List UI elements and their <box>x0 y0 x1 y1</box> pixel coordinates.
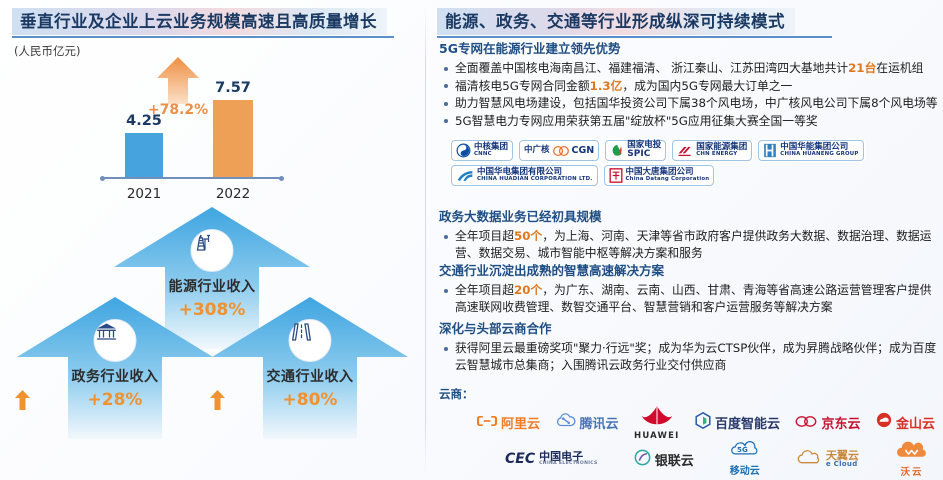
up-arrow-icon <box>15 390 30 410</box>
left-title-text: 垂直行业及企业上云业务规模高速且高质量增长 <box>12 8 387 35</box>
list-item: 全面覆盖中国核电海南昌江、福建福清、 浙江秦山、江苏田湾四大基地共计21台在运机… <box>441 60 943 77</box>
vendor-wo-name: 沃云 <box>900 464 923 478</box>
vendor-cec-text: 中国电子 CHINA ELECTRONICS <box>539 451 598 467</box>
chart-axis-line <box>102 177 282 179</box>
logo-en-name: CNNC <box>474 152 508 158</box>
logo-en-name: CHINA HUADIAN CORPORATION LTD. <box>477 177 593 183</box>
vendor-cmcc-name: 移动云 <box>730 462 760 477</box>
cmcc-cloud-icon: 5G <box>730 441 760 462</box>
bar-2022 <box>213 100 253 178</box>
section-government: 政务大数据业务已经初具规模 全年项目超50个，为上海、河南、天津等省市政府客户提… <box>437 206 943 262</box>
jd-cloud-icon <box>795 413 817 432</box>
section-cloud-cooperation: 深化与头部云商合作 获得阿里云最重磅奖项"聚力·行远"奖；成为华为云CTSP伙伴… <box>437 318 943 374</box>
spic-mark-icon <box>610 144 624 158</box>
bullet-highlight: 1.3亿 <box>590 79 623 93</box>
logo-en-name: China Datang Corporation <box>626 177 710 183</box>
logo-chip-cgn: 中广核 CGN <box>519 140 599 161</box>
government-icon-badge <box>94 319 137 362</box>
up-arrow-icon <box>210 390 225 410</box>
huaneng-mark-icon <box>763 143 777 158</box>
logo-chip-datang: 中国大唐集团公司 China Datang Corporation <box>604 165 715 186</box>
logo-chip-chn-energy: 国家能源集团 CHN ENERGY <box>672 140 752 161</box>
vendor-tianyi-text: 天翼云 e Cloud <box>826 450 859 469</box>
list-item: 福清核电5G专网合同金额1.3亿，成为国内5G专网最大订单之一 <box>441 78 943 95</box>
logo-chip-huadian: 中国华电集团有限公司 CHINA HUADIAN CORPORATION LTD… <box>451 165 598 186</box>
bank-building-icon <box>95 320 119 344</box>
vendor-huawei-name: HUAWEI <box>634 431 680 441</box>
bar-category-2022: 2022 <box>193 186 273 202</box>
right-panel-title: 能源、政务、交通等行业形成纵深可持续模式 <box>437 8 832 38</box>
vendor-cec-sub: CHINA ELECTRONICS <box>539 462 598 467</box>
transport-card-title: 交通行业收入 <box>210 366 410 386</box>
cloud-vendor-row-1: 阿里云 腾讯云 HUAWEI <box>445 404 943 440</box>
vendor-kingsoft-cloud: 金山云 <box>876 412 935 432</box>
government-card-metric: +28% <box>15 390 215 410</box>
baidu-cloud-icon <box>695 412 711 433</box>
vendor-wo-cloud: 沃云 <box>895 441 929 478</box>
bar-value-2022: 7.57 <box>193 80 273 96</box>
panel-divider <box>425 6 426 474</box>
datang-mark-icon <box>609 168 623 183</box>
section-transport: 交通行业沉淀出成熟的智慧高速解决方案 全年项目超20个，为广东、湖南、云南、山西… <box>437 260 943 316</box>
vendor-cmcc-cloud: 5G 移动云 <box>730 441 760 477</box>
bar-category-2021: 2021 <box>104 186 184 202</box>
axis-dot-right <box>279 176 284 181</box>
energy-logo-row-2: 中国华电集团有限公司 CHINA HUADIAN CORPORATION LTD… <box>451 165 943 186</box>
transport-card-metric: +80% <box>210 390 410 410</box>
bar-value-2021: 4.25 <box>104 113 184 129</box>
bullet-highlight: 21台 <box>848 61 876 75</box>
logo-chip-huaneng: 中国华能集团公司 CHINA HUANENG GROUP <box>758 140 863 161</box>
energy-logo-row-1: 中核集团 CNNC 中广核 CGN 国家电投 <box>451 140 943 161</box>
logo-chip-spic: 国家电投 SPIC <box>605 140 666 161</box>
wo-cloud-icon <box>895 441 929 464</box>
logo-chip-spic-text: 国家电投 SPIC <box>627 141 661 159</box>
slide-root: 垂直行业及企业上云业务规模高速且高质量增长 (人民币亿元) +78.2% 4.2… <box>0 0 943 480</box>
cloud-vendors-label: 云商： <box>439 386 474 402</box>
logo-en-name: CHINA HUANENG GROUP <box>780 152 858 158</box>
list-item: 全年项目超20个，为广东、湖南、云南、山西、甘肃、青海等省高速公路运营管理客户提… <box>441 282 943 315</box>
vendor-unionpay-name: 银联云 <box>655 450 694 469</box>
bullet-text-tail: 在运机组 <box>876 61 923 75</box>
industry-card-government: 政务行业收入 +28% <box>15 295 215 440</box>
section-cloud-bullets: 获得阿里云最重磅奖项"聚力·行远"奖；成为华为云CTSP伙伴，成为昇腾战略伙伴；… <box>441 340 943 373</box>
section-transport-bullets: 全年项目超20个，为广东、湖南、云南、山西、甘肃、青海等省高速公路运营管理客户提… <box>441 282 943 315</box>
right-panel: 能源、政务、交通等行业形成纵深可持续模式 5G专网在能源行业建立领先优势 全面覆… <box>437 0 943 480</box>
list-item: 获得阿里云最重磅奖项"聚力·行远"奖；成为华为云CTSP伙伴，成为昇腾战略伙伴；… <box>441 340 943 373</box>
section-5g-bullets: 全面覆盖中国核电海南昌江、福建福清、 浙江秦山、江苏田湾四大基地共计21台在运机… <box>441 60 943 129</box>
logo-en-name: SPIC <box>627 150 661 159</box>
logo-chip-huaneng-text: 中国华能集团公司 CHINA HUANENG GROUP <box>780 143 858 158</box>
transport-icon-badge <box>289 319 332 362</box>
energy-icon-badge <box>191 229 234 272</box>
huadian-mark-icon <box>456 169 474 183</box>
vendor-huawei: HUAWEI <box>634 404 680 441</box>
huawei-icon <box>640 404 674 430</box>
vendor-aliyun-name: 阿里云 <box>501 413 540 432</box>
section-government-heading: 政务大数据业务已经初具规模 <box>439 206 943 225</box>
energy-card-title: 能源行业收入 <box>112 276 312 296</box>
bullet-text: 5G智慧电力专网应用荣获第五届"绽放杯"5G应用征集大赛全国一等奖 <box>455 114 818 128</box>
bullet-text: 福清核电5G专网合同金额 <box>455 79 590 93</box>
vendor-tencent-cloud: 腾讯云 <box>556 413 619 432</box>
left-panel-title: 垂直行业及企业上云业务规模高速且高质量增长 <box>12 8 394 38</box>
list-item: 助力智慧风电场建设，包括国华投资公司下属38个风电场，中广核风电公司下属8个风电… <box>441 95 943 112</box>
industry-arrow-group: 能源行业收入 +308% <box>0 205 425 480</box>
left-title-underline <box>12 36 394 38</box>
axis-dot-left <box>100 176 105 181</box>
vendor-baidu-name: 百度智能云 <box>715 413 780 432</box>
bullet-text: 全年项目超 <box>455 229 514 243</box>
logo-chip-cnnc: 中核集团 CNNC <box>451 140 513 161</box>
logo-chip-datang-text: 中国大唐集团公司 China Datang Corporation <box>626 168 710 183</box>
vendor-cec: CEC 中国电子 CHINA ELECTRONICS <box>505 451 598 467</box>
cnnc-mark-icon <box>456 143 471 158</box>
logo-chip-huadian-text: 中国华电集团有限公司 CHINA HUADIAN CORPORATION LTD… <box>477 168 593 183</box>
bullet-text: 助力智慧风电场建设，包括国华投资公司下属38个风电场，中广核风电公司下属8个风电… <box>455 96 938 110</box>
chn-energy-mark-icon <box>677 144 693 158</box>
right-title-text: 能源、政务、交通等行业形成纵深可持续模式 <box>437 8 795 35</box>
government-card-title: 政务行业收入 <box>15 366 215 386</box>
vendor-unionpay-cloud: 银联云 <box>634 449 694 470</box>
bar-2021 <box>125 133 163 178</box>
cloud-vendor-logos: 阿里云 腾讯云 HUAWEI <box>445 404 943 478</box>
section-transport-heading: 交通行业沉淀出成熟的智慧高速解决方案 <box>439 260 943 279</box>
transport-card-value: +80% <box>283 390 338 410</box>
logo-chip-chn-energy-text: 国家能源集团 CHN ENERGY <box>696 143 747 158</box>
tencent-cloud-icon <box>556 413 576 432</box>
section-5g: 5G专网在能源行业建立领先优势 全面覆盖中国核电海南昌江、福建福清、 浙江秦山、… <box>437 38 943 130</box>
logo-chip-cnnc-text: 中核集团 CNNC <box>474 143 508 158</box>
bullet-highlight: 20个 <box>514 283 542 297</box>
revenue-bar-chart: +78.2% 4.25 7.57 2021 2022 <box>100 60 300 210</box>
highway-road-icon <box>290 320 314 344</box>
logo-en-name: CGN <box>572 146 595 156</box>
aliyun-icon <box>477 413 497 432</box>
vendor-jd-name: 京东云 <box>821 413 860 432</box>
section-5g-heading: 5G专网在能源行业建立领先优势 <box>439 38 943 57</box>
tianyi-cloud-icon <box>796 449 822 470</box>
section-government-bullets: 全年项目超50个，为上海、河南、天津等省市政府客户提供政务大数据、数据治理、数据… <box>441 228 943 261</box>
industry-card-transport: 交通行业收入 +80% <box>210 295 410 440</box>
vendor-jd-cloud: 京东云 <box>795 413 860 432</box>
vendor-aliyun: 阿里云 <box>477 413 540 432</box>
vendor-tencent-name: 腾讯云 <box>580 413 619 432</box>
oil-derrick-icon <box>192 230 216 254</box>
government-card-value: +28% <box>88 390 143 410</box>
chart-unit-label: (人民币亿元) <box>14 43 80 59</box>
logo-en-name: CHN ENERGY <box>696 152 747 158</box>
bullet-text: 全面覆盖中国核电海南昌江、福建福清、 浙江秦山、江苏田湾四大基地共计 <box>455 61 848 75</box>
vendor-tianyi-sub: e Cloud <box>826 461 859 468</box>
bullet-text: 全年项目超 <box>455 283 514 297</box>
bullet-highlight: 50个 <box>514 229 542 243</box>
bullet-text-tail: ，成为国内5G专网最大订单之一 <box>622 79 792 93</box>
energy-partner-logos: 中核集团 CNNC 中广核 CGN 国家电投 <box>451 140 943 190</box>
section-cloud-heading: 深化与头部云商合作 <box>439 318 943 337</box>
vendor-tianyi-cloud: 天翼云 e Cloud <box>796 449 859 470</box>
cloud-vendor-row-2: CEC 中国电子 CHINA ELECTRONICS 银联云 <box>445 440 943 478</box>
unionpay-cloud-icon <box>634 449 651 470</box>
bullet-text: 获得阿里云最重磅奖项"聚力·行远"奖；成为华为云CTSP伙伴，成为昇腾战略伙伴；… <box>455 341 936 372</box>
kingsoft-cloud-icon <box>876 412 892 432</box>
logo-cn-name: 中广核 <box>524 146 550 155</box>
vendor-kingsoft-name: 金山云 <box>896 413 935 432</box>
left-panel: 垂直行业及企业上云业务规模高速且高质量增长 (人民币亿元) +78.2% 4.2… <box>0 0 425 480</box>
cec-wordmark-icon: CEC <box>505 451 535 467</box>
svg-text:5G: 5G <box>737 445 748 454</box>
cgn-mark-icon <box>553 145 569 157</box>
list-item: 5G智慧电力专网应用荣获第五届"绽放杯"5G应用征集大赛全国一等奖 <box>441 113 943 130</box>
list-item: 全年项目超50个，为上海、河南、天津等省市政府客户提供政务大数据、数据治理、数据… <box>441 228 943 261</box>
vendor-baidu-cloud: 百度智能云 <box>695 412 780 433</box>
